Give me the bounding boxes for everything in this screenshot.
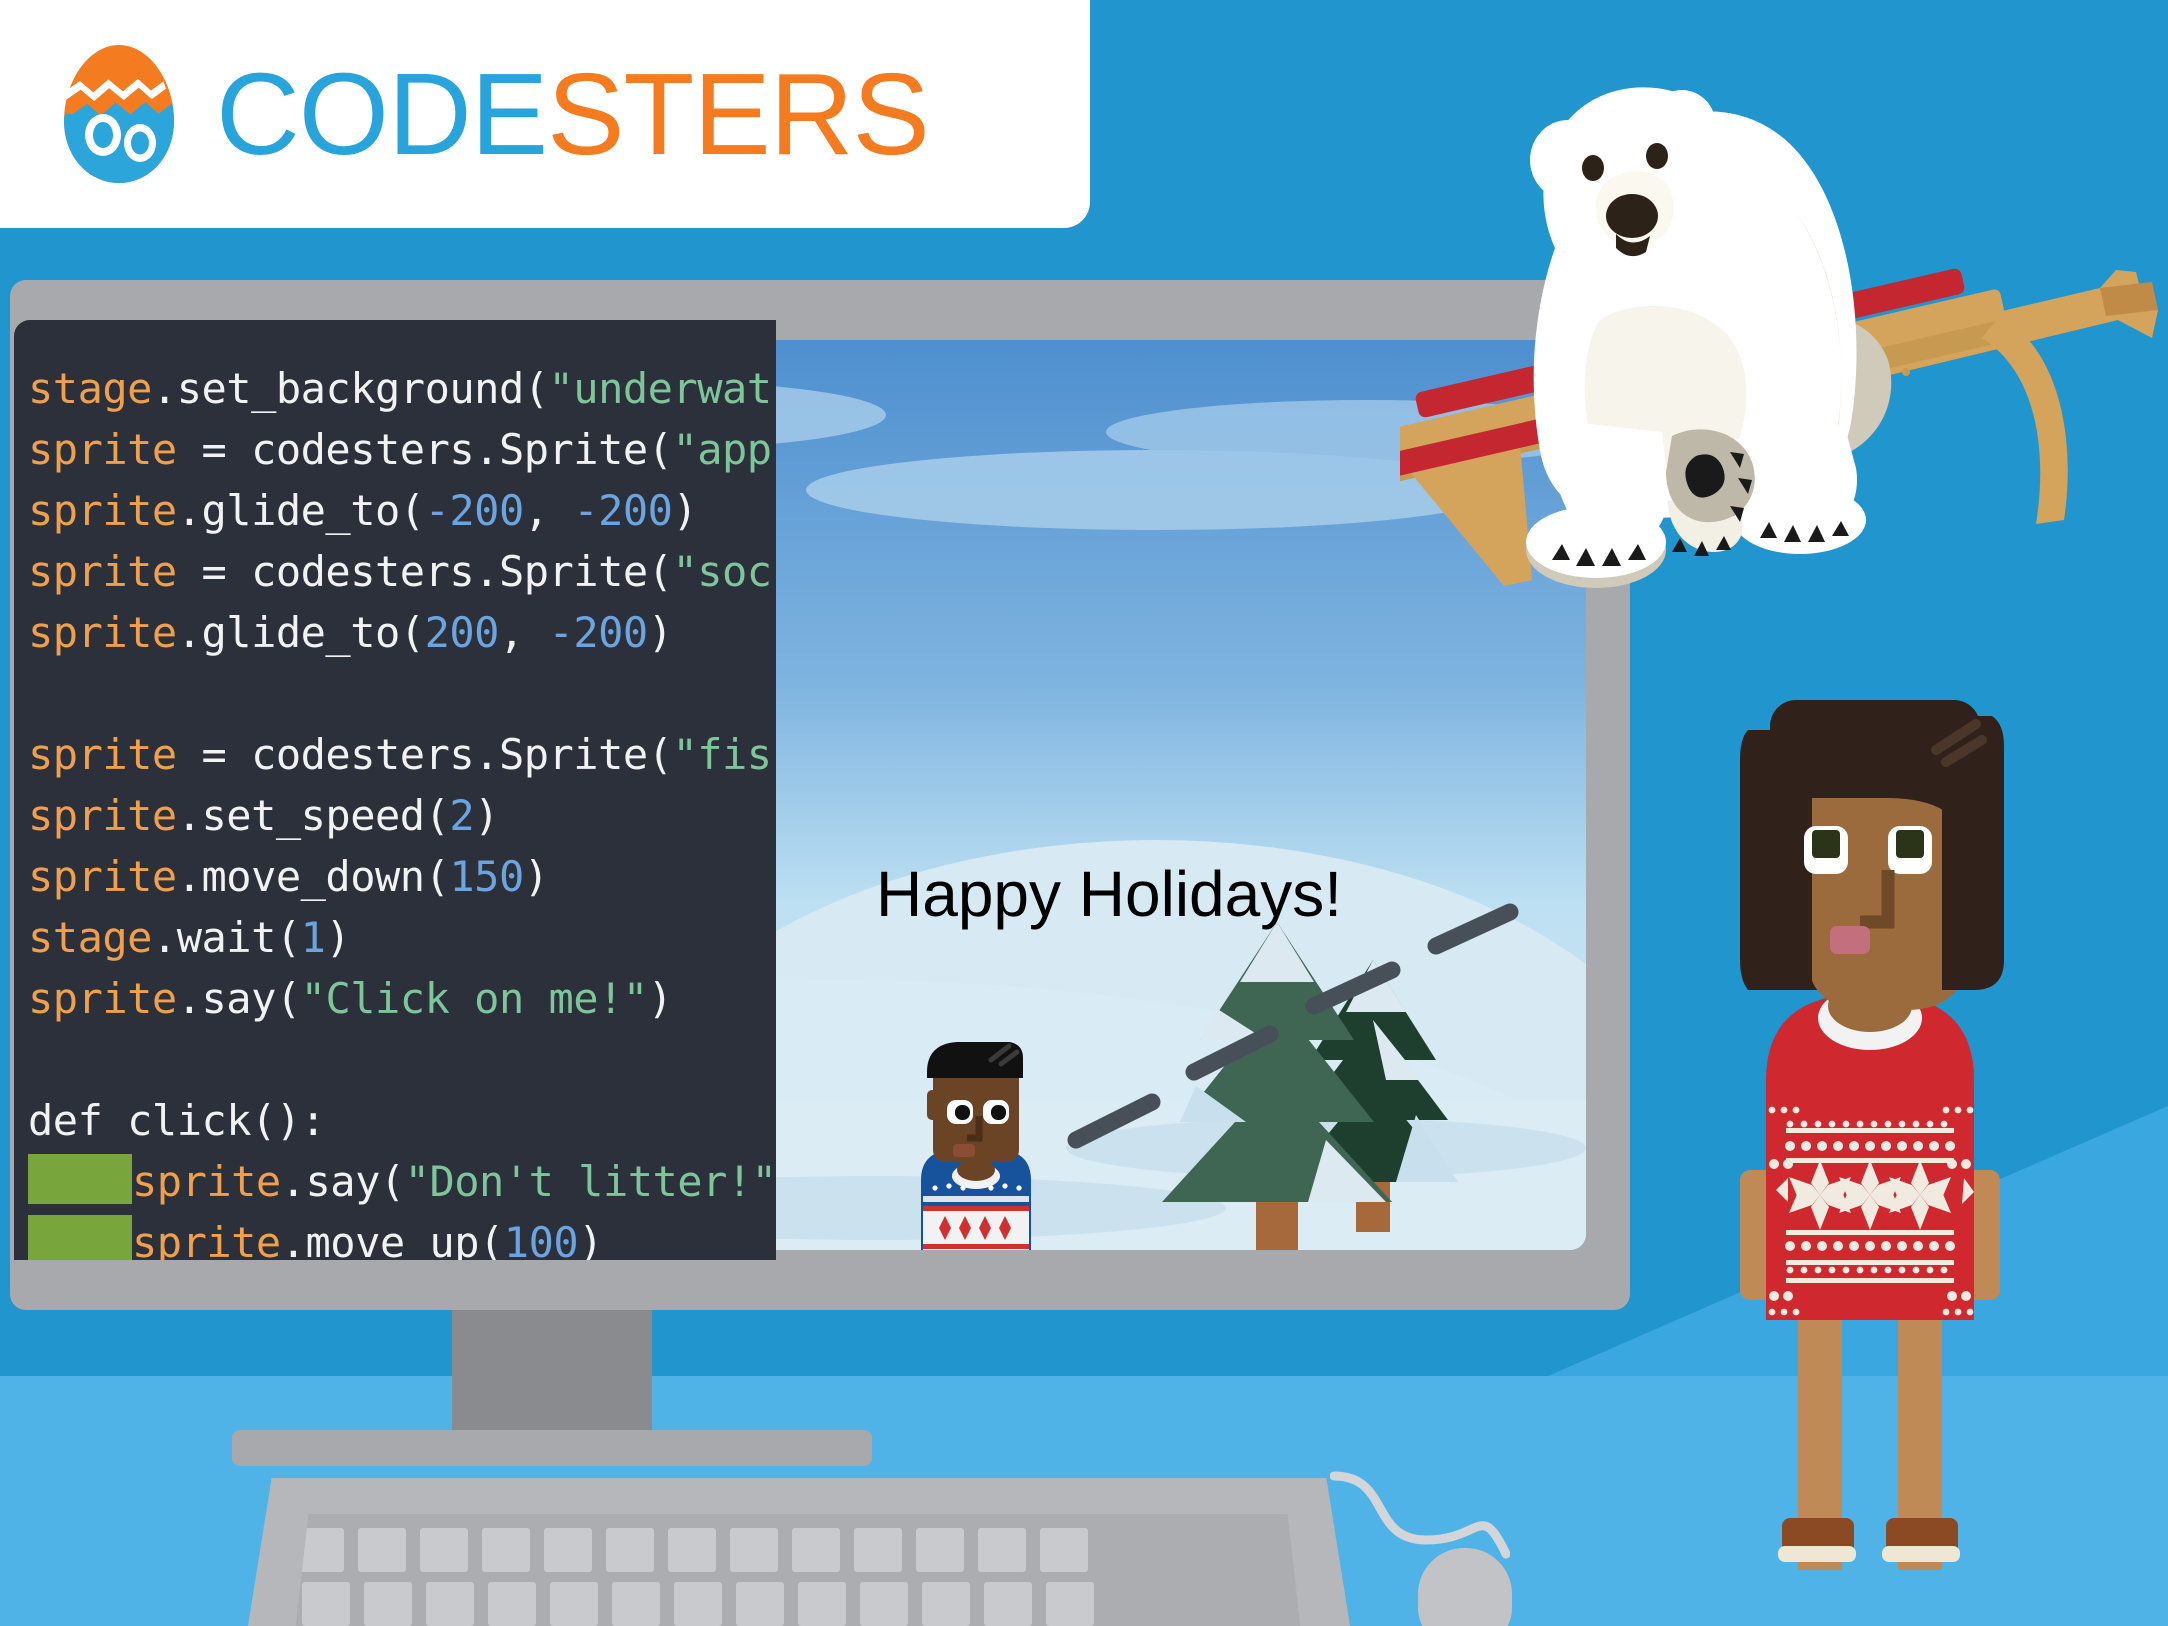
keyboard-key[interactable] (978, 1528, 1026, 1572)
code-line[interactable]: sprite.glide_to(200, -200) (28, 602, 776, 663)
keyboard-key[interactable] (854, 1528, 902, 1572)
code-token: ) (578, 1218, 603, 1260)
code-token: "fis (672, 730, 771, 779)
indent-block[interactable] (28, 1215, 132, 1260)
code-token: .say( (281, 1157, 405, 1206)
code-line[interactable]: sprite = codesters.Sprite("fis (28, 724, 776, 785)
keyboard-key[interactable] (358, 1528, 406, 1572)
code-token: .set_speed( (177, 791, 450, 840)
code-line[interactable]: sprite.glide_to(-200, -200) (28, 480, 776, 541)
code-token: .wait( (152, 913, 301, 962)
code-line[interactable]: stage.set_background("underwat (28, 358, 776, 419)
code-token: sprite (28, 486, 177, 535)
boy-sprite[interactable] (891, 1020, 1061, 1250)
code-token: sprite (28, 547, 177, 596)
code-token: .glide_to( (177, 608, 425, 657)
keyboard-key[interactable] (606, 1528, 654, 1572)
keyboard-key[interactable] (730, 1528, 778, 1572)
code-token: ) (325, 913, 350, 962)
logo-text-sters: STERS (547, 49, 929, 179)
keyboard-key[interactable] (860, 1582, 908, 1626)
keyboard[interactable] (238, 1478, 1360, 1626)
keyboard-key[interactable] (674, 1582, 722, 1626)
polar-bear (1526, 87, 1891, 588)
code-line[interactable]: sprite.say("Don't litter!" (28, 1151, 776, 1212)
code-token: sprite (132, 1218, 281, 1260)
keyboard-key[interactable] (420, 1528, 468, 1572)
code-token: = codesters.Sprite( (177, 730, 673, 779)
keyboard-key[interactable] (798, 1582, 846, 1626)
code-token: "Don't litter!" (405, 1157, 776, 1206)
polar-bear-on-sled (1400, 20, 2168, 720)
code-token: ) (648, 608, 673, 657)
indent-block[interactable] (28, 1154, 132, 1206)
code-token: sprite (28, 852, 177, 901)
keyboard-key[interactable] (550, 1582, 598, 1626)
keyboard-key-area (288, 1514, 1308, 1626)
keyboard-key[interactable] (984, 1582, 1032, 1626)
code-token: .move_up( (281, 1218, 504, 1260)
code-token: = codesters.Sprite( (177, 425, 673, 474)
code-line[interactable]: sprite = codesters.Sprite("soc (28, 541, 776, 602)
code-token: ) (672, 486, 697, 535)
code-token: "Click on me!" (301, 974, 648, 1023)
code-line[interactable]: sprite.move_up(100) (28, 1212, 776, 1260)
code-editor-text[interactable]: stage.set_background("underwatsprite = c… (28, 358, 776, 1260)
code-token: stage (28, 913, 152, 962)
keyboard-key[interactable] (922, 1582, 970, 1626)
keyboard-key[interactable] (1046, 1582, 1094, 1626)
code-token: .set_background( (152, 364, 549, 413)
code-token: 1 (301, 913, 326, 962)
code-token: .say( (177, 974, 301, 1023)
keyboard-key[interactable] (916, 1528, 964, 1572)
keyboard-key[interactable] (302, 1582, 350, 1626)
code-token: 2 (449, 791, 474, 840)
girl-sprite (1730, 700, 2010, 1570)
keyboard-row (296, 1528, 1088, 1572)
code-line[interactable]: sprite.say("Click on me!") (28, 968, 776, 1029)
code-line[interactable]: stage.wait(1) (28, 907, 776, 968)
monitor-base (232, 1430, 872, 1466)
code-token: sprite (28, 730, 177, 779)
code-token: sprite (28, 425, 177, 474)
code-token: ) (648, 974, 673, 1023)
keyboard-key[interactable] (612, 1582, 660, 1626)
code-token: ) (474, 791, 499, 840)
greeting-text: Happy Holidays! (876, 860, 1342, 929)
code-token: sprite (132, 1157, 281, 1206)
code-token: "soc (672, 547, 771, 596)
code-line[interactable]: sprite = codesters.Sprite("app (28, 419, 776, 480)
code-line[interactable]: def click(): (28, 1090, 776, 1151)
code-token: , (499, 608, 549, 657)
code-token: 150 (449, 852, 523, 901)
code-token: , (524, 486, 574, 535)
code-token: "app (672, 425, 771, 474)
code-editor-panel[interactable]: stage.set_background("underwatsprite = c… (14, 320, 776, 1260)
code-line[interactable] (28, 663, 776, 724)
code-token: "underwat (549, 364, 772, 413)
codesters-logo-card[interactable]: CODESTERS (0, 0, 1090, 228)
keyboard-key[interactable] (296, 1528, 344, 1572)
codesters-wordmark: CODESTERS (216, 56, 929, 172)
keyboard-key[interactable] (426, 1582, 474, 1626)
code-token: ) (524, 852, 549, 901)
code-token: = codesters.Sprite( (177, 547, 673, 596)
code-line[interactable]: sprite.move_down(150) (28, 846, 776, 907)
keyboard-key[interactable] (482, 1528, 530, 1572)
code-token: .glide_to( (177, 486, 425, 535)
keyboard-key[interactable] (792, 1528, 840, 1572)
flight-trajectory-dashes (1066, 740, 1586, 1160)
code-token: stage (28, 364, 152, 413)
monitor-neck (452, 1310, 652, 1440)
code-token: def click(): (28, 1096, 325, 1145)
code-token: .move_down( (177, 852, 450, 901)
code-token: -200 (425, 486, 524, 535)
code-token: sprite (28, 608, 177, 657)
codesters-egg-logo-icon (44, 39, 194, 189)
code-token: 100 (504, 1218, 578, 1260)
keyboard-key[interactable] (668, 1528, 716, 1572)
code-token: sprite (28, 974, 177, 1023)
code-token: sprite (28, 791, 177, 840)
keyboard-key[interactable] (1040, 1528, 1088, 1572)
keyboard-key[interactable] (364, 1582, 412, 1626)
code-token: -200 (573, 486, 672, 535)
logo-text-code: CODE (216, 49, 547, 179)
keyboard-key[interactable] (736, 1582, 784, 1626)
code-token: 200 (425, 608, 499, 657)
keyboard-key[interactable] (544, 1528, 592, 1572)
keyboard-row (302, 1582, 1094, 1626)
code-token: -200 (549, 608, 648, 657)
code-line[interactable]: sprite.set_speed(2) (28, 785, 776, 846)
code-line[interactable] (28, 1029, 776, 1090)
keyboard-key[interactable] (488, 1582, 536, 1626)
